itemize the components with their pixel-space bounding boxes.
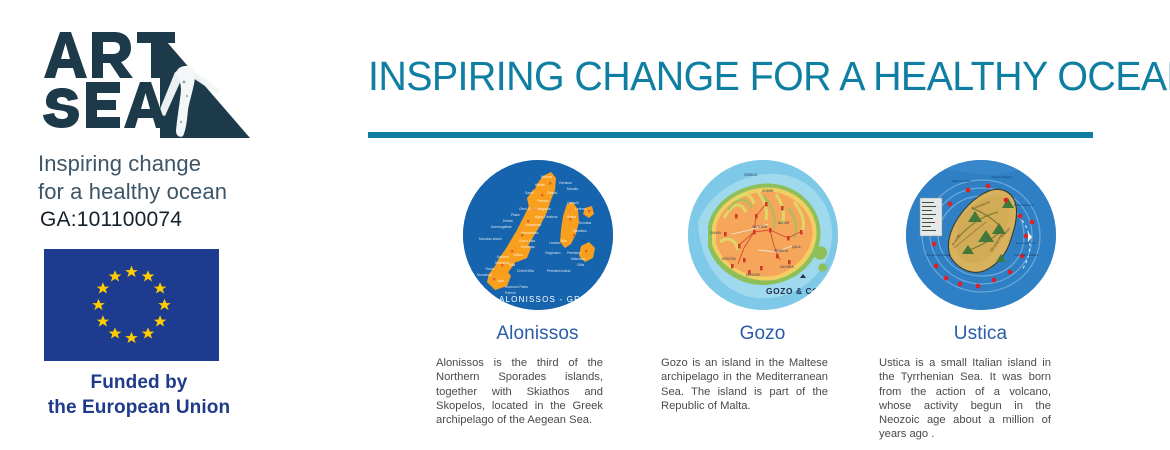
svg-text:Prionas: Prionas xyxy=(537,199,549,203)
gozo-map-caption: GOZO & COM xyxy=(766,286,827,296)
svg-text:Melegakia: Melegakia xyxy=(535,207,551,211)
gozo-map-graphic: ZEBBUĠĠHARB VICTORIANADUR GHAJNXEWKIJA Q… xyxy=(688,160,838,310)
tagline-line-1: Inspiring change xyxy=(38,150,288,178)
svg-text:Bila: Bila xyxy=(561,239,567,243)
svg-text:ĠHARB: ĠHARB xyxy=(762,188,773,193)
svg-text:Saroli: Saroli xyxy=(525,191,534,195)
funding-line-2: the European Union xyxy=(0,395,278,420)
tagline-line-2: for a healthy ocean xyxy=(38,178,288,206)
svg-text:Mandilou: Mandilou xyxy=(573,229,587,233)
svg-text:Dasaki: Dasaki xyxy=(547,191,558,195)
svg-text:Ylaria: Ylaria xyxy=(485,267,494,271)
svg-text:Belanis: Belanis xyxy=(541,175,552,179)
logo-word-sea xyxy=(43,82,167,128)
svg-text:Punta Gavazzi: Punta Gavazzi xyxy=(1014,203,1034,207)
island-cards: BelanisKefala GerakasMandia DasakiSaroli… xyxy=(368,160,1108,445)
svg-text:Ġ A: Ġ A xyxy=(491,166,497,171)
svg-text:Mandia: Mandia xyxy=(567,187,578,191)
island-title: Gozo xyxy=(655,323,870,345)
svg-text:Gerovili: Gerovili xyxy=(567,201,579,205)
svg-text:Grotta Azzurra: Grotta Azzurra xyxy=(1016,241,1036,245)
brand-column: Inspiring change for a healthy ocean GA:… xyxy=(0,0,330,450)
svg-text:Manolas island: Manolas island xyxy=(479,237,502,241)
svg-text:ZEBBUĠ: ZEBBUĠ xyxy=(744,172,758,177)
svg-text:Scoglio del Medico: Scoglio del Medico xyxy=(926,253,952,257)
svg-text:Anemogalinia: Anemogalinia xyxy=(491,225,512,229)
island-card-gozo[interactable]: ZEBBUĠĠHARB VICTORIANADUR GHAJNXEWKIJA Q… xyxy=(655,160,870,413)
title-divider-rule xyxy=(368,132,1093,138)
page-title: INSPIRING CHANGE FOR A HEALTHY OCEAN xyxy=(368,53,1170,99)
island-title: Ustica xyxy=(873,323,1088,345)
svg-text:KERĊEM: KERĊEM xyxy=(722,256,736,261)
alonissos-map-graphic: BelanisKefala GerakasMandia DasakiSaroli… xyxy=(463,160,613,310)
svg-text:Kourouni Palos: Kourouni Palos xyxy=(505,285,528,289)
svg-text:Kefala: Kefala xyxy=(503,219,513,223)
svg-text:Kastron: Kastron xyxy=(497,255,509,259)
svg-text:Vamvakies: Vamvakies xyxy=(525,223,542,227)
svg-text:Eremiata: Eremiata xyxy=(521,245,535,249)
ustica-map-graphic: Tramontana Ponente Mezzogiorno Levante P… xyxy=(906,160,1056,310)
svg-text:Gerakas: Gerakas xyxy=(559,181,572,185)
island-card-ustica[interactable]: Tramontana Ponente Mezzogiorno Levante P… xyxy=(873,160,1088,442)
svg-text:Barba: Barba xyxy=(567,215,576,219)
grant-agreement-number: GA:101100074 xyxy=(40,208,182,232)
svg-text:Miarmata: Miarmata xyxy=(571,257,585,261)
svg-text:Kefala: Kefala xyxy=(535,183,545,187)
svg-text:Kolimbos: Kolimbos xyxy=(495,261,509,265)
eu-flag-stars xyxy=(44,249,219,361)
island-description: Ustica is a small Italian island in the … xyxy=(879,356,1051,442)
poster-canvas: Inspiring change for a healthy ocean GA:… xyxy=(0,0,1170,450)
svg-text:Livadia: Livadia xyxy=(549,241,560,245)
svg-text:Punta Cavazzi: Punta Cavazzi xyxy=(992,175,1012,179)
svg-text:Vlagonaro: Vlagonaro xyxy=(545,251,561,255)
island-description: Gozo is an island in the Maltese archipe… xyxy=(661,356,828,413)
svg-text:Kovatus: Kovatus xyxy=(579,221,592,225)
artsea-logo xyxy=(38,26,270,146)
funding-statement: Funded by the European Union xyxy=(0,370,278,420)
svg-text:XEWKIJA: XEWKIJA xyxy=(774,249,789,253)
svg-text:Lechsa: Lechsa xyxy=(575,207,586,211)
svg-text:QALA: QALA xyxy=(792,245,801,249)
island-description: Alonissos is the third of the Northern S… xyxy=(436,356,603,427)
svg-text:Mila: Mila xyxy=(509,263,515,267)
svg-text:MUNXAR: MUNXAR xyxy=(746,273,761,277)
svg-text:Peristera island: Peristera island xyxy=(547,269,570,273)
alonissos-map-thumbnail: BelanisKefala GerakasMandia DasakiSaroli… xyxy=(463,160,613,310)
brand-tagline: Inspiring change for a healthy ocean xyxy=(38,150,288,206)
svg-text:NADUR: NADUR xyxy=(778,221,790,225)
svg-text:Vafkos: Vafkos xyxy=(513,253,523,257)
svg-text:Plaka: Plaka xyxy=(511,213,520,217)
funding-line-1: Funded by xyxy=(0,370,278,395)
svg-text:Stavri Vala: Stavri Vala xyxy=(519,239,535,243)
european-union-flag xyxy=(44,249,219,361)
svg-text:Isola di Ustica: Isola di Ustica xyxy=(952,179,971,183)
island-card-alonissos[interactable]: BelanisKefala GerakasMandia DasakiSaroli… xyxy=(430,160,645,427)
svg-text:GHAJN: GHAJN xyxy=(710,231,722,235)
svg-text:Christi Mila: Christi Mila xyxy=(517,269,534,273)
ustica-map-thumbnail: Tramontana Ponente Mezzogiorno Levante P… xyxy=(906,160,1056,310)
svg-text:Peristera: Peristera xyxy=(567,251,581,255)
island-title: Alonissos xyxy=(430,323,645,345)
svg-text:XAGHRA: XAGHRA xyxy=(780,265,794,269)
logo-word-art xyxy=(44,32,175,78)
artsea-logo-mark xyxy=(38,26,270,146)
svg-text:VICTORIA: VICTORIA xyxy=(752,225,768,229)
gozo-map-thumbnail: ZEBBUĠĠHARB VICTORIANADUR GHAJNXEWKIJA Q… xyxy=(688,160,838,310)
svg-text:Ginni G.: Ginni G. xyxy=(519,207,531,211)
alonissos-map-caption: ALONISSOS - GREECE xyxy=(499,295,608,304)
svg-text:Torre Santa Maria: Torre Santa Maria xyxy=(1014,253,1038,257)
svg-text:Gillis: Gillis xyxy=(577,263,585,267)
svg-text:Agios Dimitrios: Agios Dimitrios xyxy=(535,215,558,219)
svg-text:Vata: Vata xyxy=(497,279,504,283)
svg-text:Monolepo: Monolepo xyxy=(477,273,492,277)
svg-text:Remazanta: Remazanta xyxy=(521,231,538,235)
